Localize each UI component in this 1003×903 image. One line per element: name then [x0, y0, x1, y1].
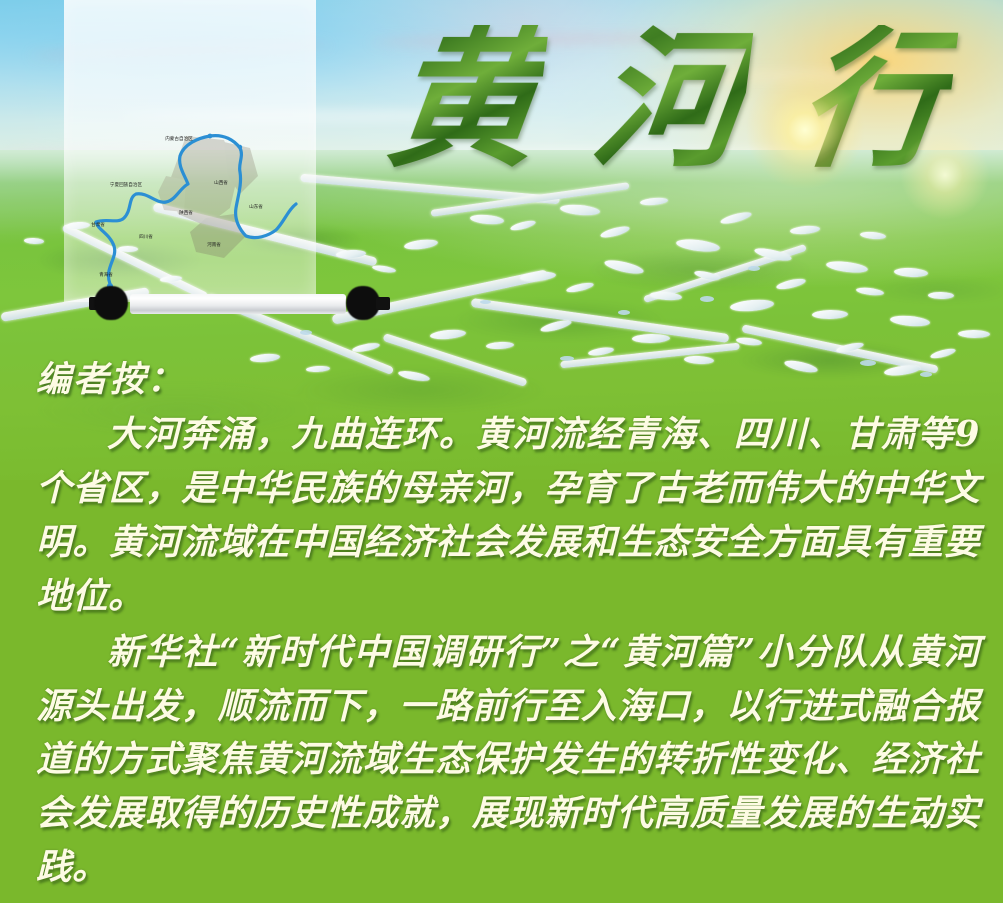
map-province-label: 四川省 — [139, 233, 153, 240]
wetland-pool — [480, 300, 491, 304]
river-bend-marker — [208, 134, 213, 139]
map-province-label: 河南省 — [207, 241, 221, 248]
yellow-river-basin-map[interactable]: 内蒙古自治区宁夏回族自治区山西省陕西省河南省山东省甘肃省青海省四川省 — [64, 0, 316, 302]
wetland-pool — [618, 310, 630, 315]
river-course-svg: 内蒙古自治区宁夏回族自治区山西省陕西省河南省山东省甘肃省青海省四川省 — [74, 118, 306, 298]
poster-canvas: 内蒙古自治区宁夏回族自治区山西省陕西省河南省山东省甘肃省青海省四川省 黄 河 行… — [0, 0, 1003, 903]
scroll-rod-knob-left — [94, 286, 128, 320]
wetland-pool — [700, 296, 714, 302]
map-province-label: 山东省 — [249, 203, 263, 210]
wetland-pool — [300, 330, 312, 335]
map-province-label: 青海省 — [99, 271, 113, 278]
editor-note-heading: 编者按： — [36, 358, 980, 402]
scroll-rod-bar — [130, 294, 346, 314]
scroll-rod-knob-right — [346, 286, 380, 320]
title-char-he: 河 — [586, 25, 754, 175]
title-char-huang: 黄 — [381, 25, 549, 175]
scroll-paper: 内蒙古自治区宁夏回族自治区山西省陕西省河南省山东省甘肃省青海省四川省 — [64, 0, 316, 302]
scroll-rod[interactable] — [88, 286, 388, 320]
river-bend-marker — [238, 145, 242, 149]
editor-note-paragraph-2: 新华社“新时代中国调研行”之“黄河篇”小分队从黄河源头出发，顺流而下，一路前行至… — [36, 626, 980, 896]
map-scroll: 内蒙古自治区宁夏回族自治区山西省陕西省河南省山东省甘肃省青海省四川省 — [64, 0, 316, 320]
map-province-label: 宁夏回族自治区 — [110, 181, 143, 188]
map-province-label: 甘肃省 — [91, 221, 105, 228]
map-province-label: 内蒙古自治区 — [165, 135, 193, 142]
map-province-label: 山西省 — [214, 179, 228, 186]
wetland-pool — [748, 266, 760, 271]
wetland-lake — [928, 292, 954, 299]
title-char-xing: 行 — [791, 25, 959, 175]
editor-note-block: 编者按： 大河奔涌，九曲连环。黄河流经青海、四川、甘肃等9个省区，是中华民族的母… — [36, 358, 980, 897]
scroll-rod-cap-right — [376, 297, 390, 310]
poster-title: 黄 河 行 — [390, 12, 950, 187]
editor-note-paragraph-1: 大河奔涌，九曲连环。黄河流经青海、四川、甘肃等9个省区，是中华民族的母亲河，孕育… — [36, 408, 980, 624]
map-province-label: 陕西省 — [179, 209, 193, 216]
